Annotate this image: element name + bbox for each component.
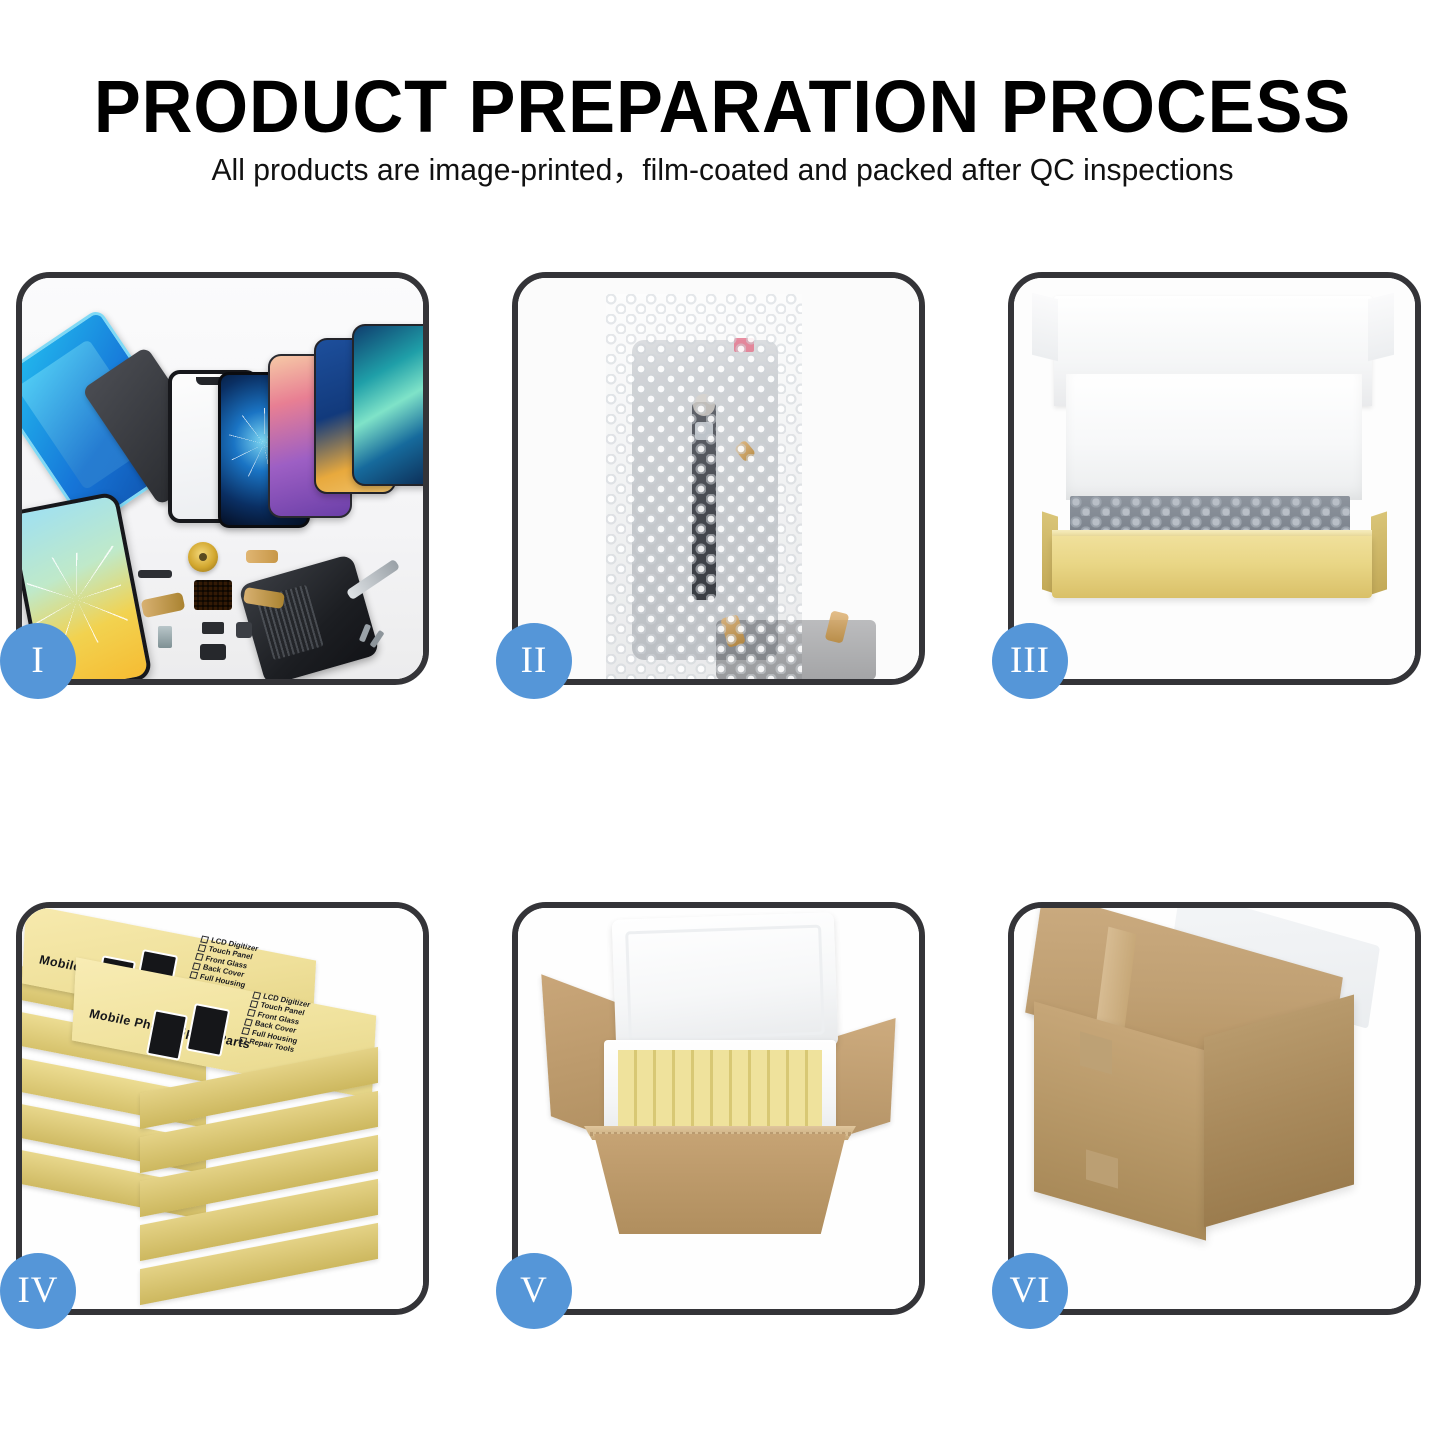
- parts-assortment-scene: [22, 278, 423, 679]
- step-5-image: [518, 908, 919, 1309]
- box-stack: Mobile Phone Spare Parts LCD Digitizer T…: [22, 918, 423, 1309]
- step-6-image: [1014, 908, 1415, 1309]
- step-1-image: [22, 278, 423, 679]
- step-badge-2: II: [496, 623, 572, 699]
- step-panel-3: III: [1008, 272, 1421, 685]
- carton-styrofoam-scene: [518, 908, 919, 1309]
- step-panel-6: VI: [1008, 902, 1421, 1315]
- page-header: PRODUCT PREPARATION PROCESS All products…: [0, 0, 1445, 230]
- stacked-boxes-scene: Mobile Phone Spare Parts LCD Digitizer T…: [22, 908, 423, 1309]
- page-subtitle: All products are image-printed，film-coat…: [11, 152, 1434, 188]
- step-badge-6: VI: [992, 1253, 1068, 1329]
- gold-box-foam-scene: [1014, 278, 1415, 679]
- bubble-texture-overlay: [606, 294, 802, 679]
- white-foam-sheet: [1066, 374, 1362, 500]
- wireless-charging-coil-part: [188, 542, 218, 572]
- sealed-carton-scene: [1014, 908, 1415, 1309]
- step-panel-4: Mobile Phone Spare Parts LCD Digitizer T…: [16, 902, 429, 1315]
- gold-box-front-panel: [1052, 536, 1372, 598]
- connector-grid-part: [194, 580, 232, 610]
- gold-boxes-inside: [618, 1050, 822, 1126]
- flex-cable-part-a: [246, 550, 278, 563]
- page-title: PRODUCT PREPARATION PROCESS: [36, 68, 1409, 146]
- step-panel-5: V: [512, 902, 925, 1315]
- loudspeaker-part: [200, 644, 226, 660]
- step-badge-1: I: [0, 623, 76, 699]
- phone-back-housing: [238, 554, 380, 679]
- bubble-wrap-scene: [518, 278, 919, 679]
- carton-body: [594, 1134, 846, 1234]
- step-4-image: Mobile Phone Spare Parts LCD Digitizer T…: [22, 908, 423, 1309]
- earpiece-speaker-part: [138, 570, 172, 578]
- step-panel-2: II: [512, 272, 925, 685]
- ic-chip-part: [202, 622, 224, 634]
- step-badge-4: IV: [0, 1253, 76, 1329]
- step-panel-1: I: [16, 272, 429, 685]
- step-2-image: [518, 278, 919, 679]
- bubble-wrap-bag: [606, 294, 802, 679]
- gradient-phone-teal: [352, 324, 423, 486]
- sim-tray-part: [158, 626, 172, 648]
- camera-module-part: [236, 622, 252, 638]
- flex-cable-part-b: [141, 592, 186, 618]
- styrofoam-lid: [612, 912, 839, 1054]
- step-badge-3: III: [992, 623, 1068, 699]
- step-3-image: [1014, 278, 1415, 679]
- box-right-wall: [1371, 511, 1387, 594]
- step-badge-5: V: [496, 1253, 572, 1329]
